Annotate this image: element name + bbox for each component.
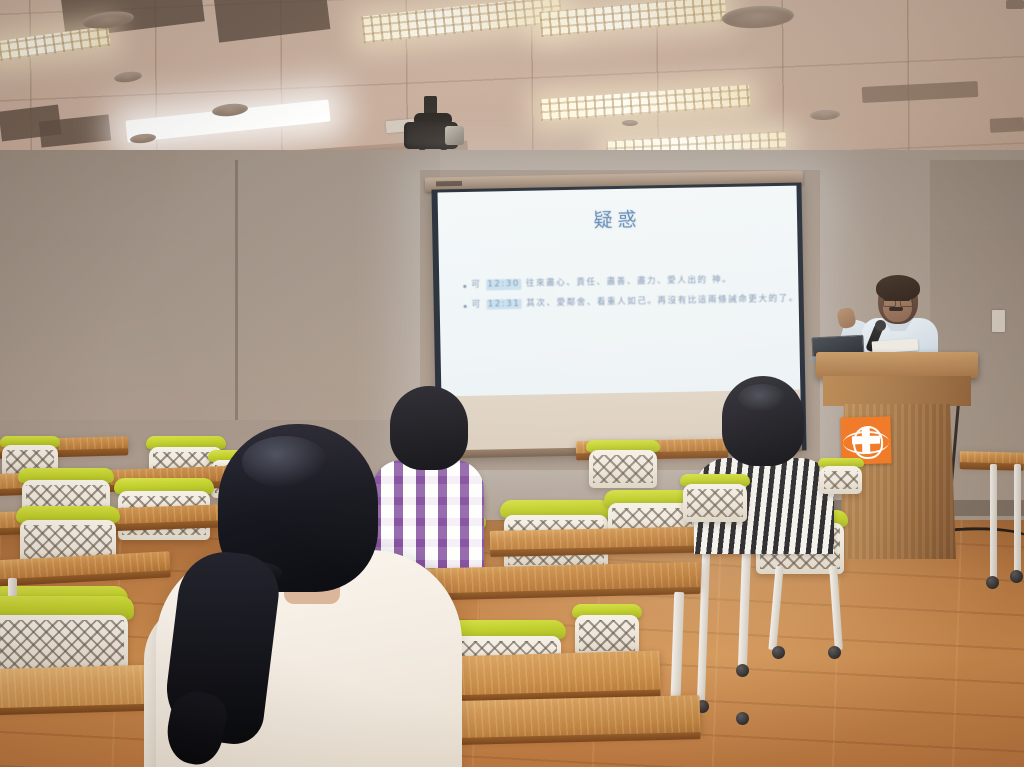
bullet-reference: 12:31 — [487, 298, 522, 309]
projector-lens — [445, 126, 464, 145]
ceiling-air-vent — [1006, 0, 1024, 9]
podium-top-surface — [816, 352, 978, 378]
chair — [680, 474, 750, 522]
desk-leg — [1014, 464, 1021, 574]
presenter-mustache — [889, 307, 903, 311]
attendee-hair-highlight — [738, 384, 786, 412]
ceiling-air-vent — [990, 117, 1024, 133]
screen-housing-label — [436, 181, 462, 186]
bullet-marker-icon — [464, 305, 467, 308]
chair — [818, 458, 864, 494]
attendee-foreground — [156, 424, 476, 767]
slide-title: 疑惑 — [438, 202, 797, 236]
bullet-prefix: 可 — [472, 299, 482, 310]
desk-caster — [986, 576, 999, 589]
presenter-hair — [876, 275, 920, 301]
chair — [586, 440, 660, 488]
wall-switch-plate — [992, 310, 1005, 332]
chair-caster — [772, 646, 785, 659]
attendee-hair-highlight — [242, 436, 328, 488]
chair — [572, 604, 642, 656]
desk-caster — [1010, 570, 1023, 583]
slide-bullet-list: 可 12:30 往來盡心、責任、盡善、盡力、愛人出的 神。 可 12:31 其次… — [463, 274, 787, 319]
desk-caster — [736, 712, 749, 725]
ceiling-sprinkler — [622, 120, 638, 126]
microphone-head[interactable] — [875, 320, 886, 331]
bullet-text: 往來盡心、責任、盡善、盡力、愛人出的 神。 — [526, 275, 732, 290]
slide-bullet-item: 可 12:30 往來盡心、責任、盡善、盡力、愛人出的 神。 — [463, 274, 786, 291]
podium-neck — [823, 376, 971, 406]
bullet-marker-icon — [463, 285, 466, 288]
slide-bullet-item: 可 12:31 其次、愛鄰舍、看重人如己。再沒有比這兩條誡命更大的了。 — [464, 293, 787, 310]
bullet-prefix: 可 — [471, 280, 481, 291]
chair-caster — [828, 646, 841, 659]
lecture-hall-photo: 疑惑 可 12:30 往來盡心、責任、盡善、盡力、愛人出的 神。 可 12:31… — [0, 0, 1024, 767]
desk-leg — [990, 464, 997, 580]
bullet-reference: 12:30 — [486, 279, 521, 290]
bullet-text: 其次、愛鄰舍、看重人如己。再沒有比這兩條誡命更大的了。 — [526, 293, 799, 309]
desk-caster — [736, 664, 749, 677]
emblem-cross-horizontal — [852, 436, 880, 445]
desk — [960, 451, 1024, 465]
